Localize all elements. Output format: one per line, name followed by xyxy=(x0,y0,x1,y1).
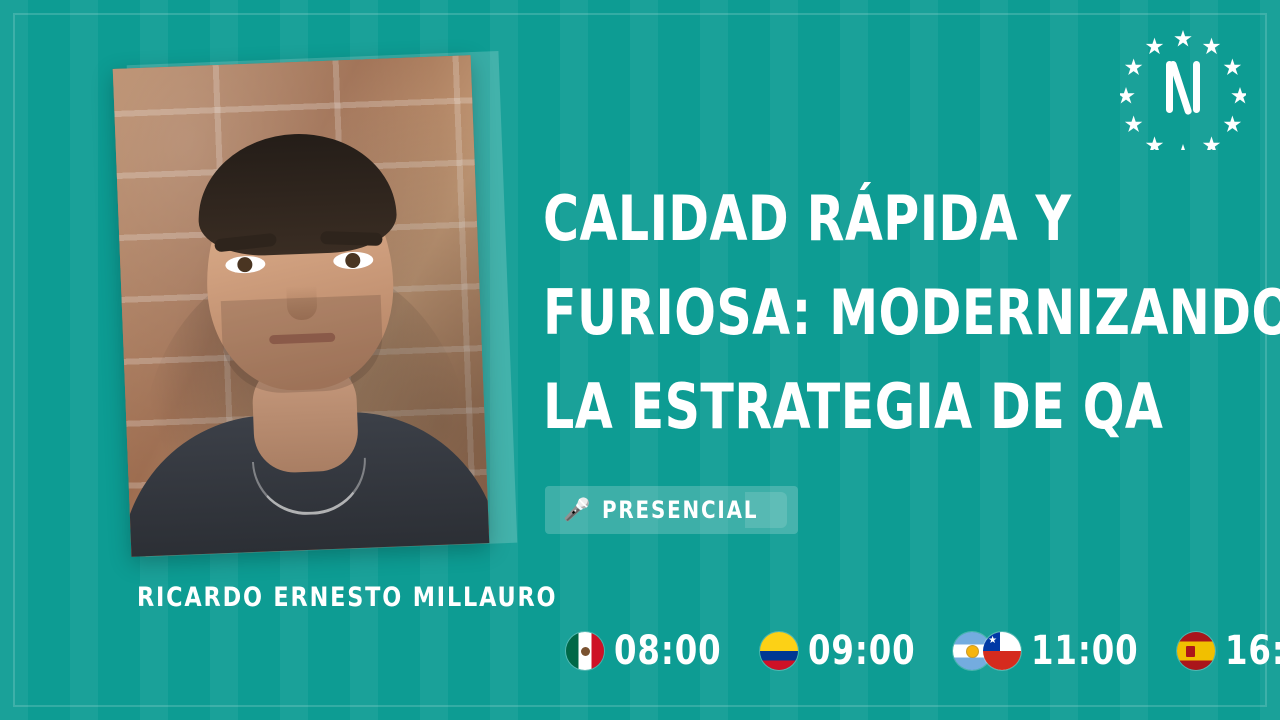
talk-title-line-1: CALIDAD RÁPIDA Y xyxy=(543,172,1159,266)
modality-label: PRESENCIAL xyxy=(602,496,758,524)
portrait-nose xyxy=(286,267,318,320)
timezone-times-row: 08:00 09:00 ★ 11:00 16:00 xyxy=(566,628,1280,674)
chile-flag-icon: ★ xyxy=(983,632,1021,670)
time-value: 09:00 xyxy=(808,628,916,674)
portrait-eyebrow-right xyxy=(320,231,382,246)
mexico-flag-icon xyxy=(566,632,604,670)
speaker-photo xyxy=(113,55,489,556)
microphone-icon: 🎤 xyxy=(563,499,590,521)
event-promo-card: RICARDO ERNESTO MILLAURO CALIDAD RÁPIDA … xyxy=(0,0,1280,720)
talk-title-line-2: FURIOSA: MODERNIZANDO xyxy=(543,266,1159,360)
time-value: 08:00 xyxy=(614,628,722,674)
speaker-name: RICARDO ERNESTO MILLAURO xyxy=(137,582,481,613)
time-value: 16:00 xyxy=(1225,628,1280,674)
event-logo xyxy=(1120,24,1246,150)
spain-flag-icon xyxy=(1177,632,1215,670)
speaker-photo-container xyxy=(122,62,494,554)
time-item: 16:00 xyxy=(1177,628,1280,674)
time-item: 08:00 xyxy=(566,628,734,674)
talk-title: CALIDAD RÁPIDA Y FURIOSA: MODERNIZANDO L… xyxy=(543,172,1159,454)
time-item: ★ 11:00 xyxy=(953,628,1151,674)
time-value: 11:00 xyxy=(1031,628,1139,674)
talk-title-line-3: LA ESTRATEGIA DE QA xyxy=(543,360,1159,454)
modality-badge: 🎤 PRESENCIAL xyxy=(545,486,798,534)
time-item: 09:00 xyxy=(760,628,928,674)
colombia-flag-icon xyxy=(760,632,798,670)
